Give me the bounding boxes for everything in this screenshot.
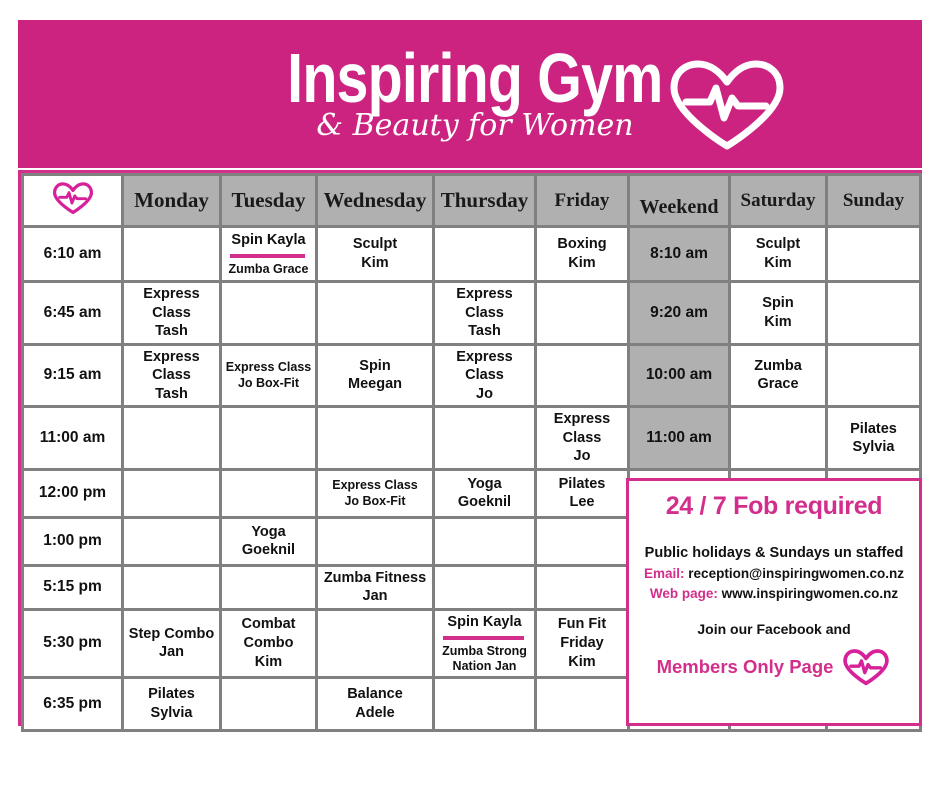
class-cell-wednesday[interactable]: Express ClassJo Box-Fit bbox=[317, 469, 434, 517]
class-entry-line: Kim bbox=[539, 653, 625, 672]
facebook-join-text: Join our Facebook and bbox=[637, 621, 911, 637]
class-entry-line: Express Class bbox=[320, 477, 430, 493]
class-cell-thursday[interactable] bbox=[434, 565, 536, 609]
class-entry-line: Tash bbox=[126, 322, 217, 341]
time-label: 1:00 pm bbox=[23, 517, 123, 565]
column-header-thursday: Thursday bbox=[434, 175, 536, 227]
class-entry-line: Pilates bbox=[126, 685, 217, 704]
staffing-note: Public holidays & Sundays un staffed bbox=[637, 545, 911, 561]
class-cell-saturday[interactable]: SpinKim bbox=[730, 282, 827, 345]
class-entry: Step ComboJan bbox=[126, 625, 217, 662]
class-entry-line: Spin bbox=[733, 294, 823, 313]
table-row: 9:15 amExpress ClassTashExpress ClassJo … bbox=[23, 344, 921, 407]
class-entry-primary: Spin Kayla bbox=[437, 613, 532, 635]
brand-banner: Inspiring Gym & Beauty for Women bbox=[18, 20, 922, 168]
class-entry-line: Kim bbox=[733, 254, 823, 273]
web-value[interactable]: www.inspiringwomen.co.nz bbox=[722, 586, 899, 601]
members-only-link[interactable]: Members Only Page bbox=[657, 656, 834, 678]
members-only-row: Members Only Page bbox=[637, 647, 911, 687]
class-entry-line: Boxing bbox=[539, 235, 625, 254]
class-entry-line: Balance bbox=[320, 685, 430, 704]
class-entry: Fun FitFridayKim bbox=[539, 615, 625, 671]
class-cell-wednesday[interactable]: SpinMeegan bbox=[317, 344, 434, 407]
class-cell-thursday[interactable]: Express ClassTash bbox=[434, 282, 536, 345]
heart-pulse-icon bbox=[841, 647, 891, 687]
class-cell-thursday[interactable] bbox=[434, 407, 536, 470]
class-divider bbox=[443, 636, 524, 640]
column-header-friday: Friday bbox=[536, 175, 629, 227]
table-row: 6:45 amExpress ClassTashExpress ClassTas… bbox=[23, 282, 921, 345]
class-entry: CombatComboKim bbox=[224, 615, 313, 671]
class-entry-line: Jan bbox=[320, 587, 430, 606]
class-entry-line: Express Class bbox=[126, 348, 217, 385]
table-row: 6:10 amSpin KaylaZumba GraceSculptKimBox… bbox=[23, 227, 921, 282]
class-entry-line: Pilates bbox=[830, 420, 917, 439]
class-cell-tuesday[interactable]: Spin KaylaZumba Grace bbox=[221, 227, 317, 282]
email-value[interactable]: reception@inspiringwomen.co.nz bbox=[688, 566, 904, 581]
class-entry-line: Combat bbox=[224, 615, 313, 634]
split-class-cell: Spin KaylaZumba StrongNation Jan bbox=[437, 613, 532, 674]
class-entry: PilatesSylvia bbox=[126, 685, 217, 722]
corner-logo-cell bbox=[23, 175, 123, 227]
class-entry-line: Tash bbox=[437, 322, 532, 341]
class-cell-thursday[interactable]: YogaGoeknil bbox=[434, 469, 536, 517]
class-entry-primary: Spin Kayla bbox=[224, 231, 313, 253]
class-cell-thursday[interactable]: Spin KaylaZumba StrongNation Jan bbox=[434, 610, 536, 678]
class-cell-friday[interactable] bbox=[536, 344, 629, 407]
class-entry: Zumba FitnessJan bbox=[320, 569, 430, 606]
class-entry-line: Combo bbox=[224, 634, 313, 653]
class-entry-line: Yoga bbox=[224, 523, 313, 542]
class-entry-line: Zumba bbox=[733, 357, 823, 376]
class-cell-thursday[interactable] bbox=[434, 677, 536, 730]
weekend-time-label: 9:20 am bbox=[629, 282, 730, 345]
class-cell-saturday[interactable]: SculptKim bbox=[730, 227, 827, 282]
table-row: 11:00 amExpress ClassJo11:00 amPilatesSy… bbox=[23, 407, 921, 470]
class-entry-line: Express Class bbox=[437, 285, 532, 322]
class-entry-line: Express Class bbox=[126, 285, 217, 322]
class-entry: Express ClassTash bbox=[437, 285, 532, 341]
class-cell-saturday[interactable]: ZumbaGrace bbox=[730, 344, 827, 407]
weekend-time-label: 10:00 am bbox=[629, 344, 730, 407]
class-entry-line: Tash bbox=[126, 385, 217, 404]
class-cell-monday[interactable]: Express ClassTash bbox=[123, 282, 221, 345]
class-entry: SpinMeegan bbox=[320, 357, 430, 394]
web-label: Web page: bbox=[650, 586, 718, 601]
class-cell-saturday[interactable] bbox=[730, 407, 827, 470]
class-cell-sunday[interactable] bbox=[827, 282, 921, 345]
class-cell-sunday[interactable] bbox=[827, 227, 921, 282]
class-cell-sunday[interactable]: PilatesSylvia bbox=[827, 407, 921, 470]
time-label: 12:00 pm bbox=[23, 469, 123, 517]
class-cell-monday[interactable]: Step ComboJan bbox=[123, 610, 221, 678]
class-entry-line: Sculpt bbox=[733, 235, 823, 254]
column-header-wednesday: Wednesday bbox=[317, 175, 434, 227]
class-entry-line: Jo bbox=[539, 447, 625, 466]
class-entry: YogaGoeknil bbox=[437, 475, 532, 512]
class-entry-line: Zumba Strong bbox=[437, 644, 532, 659]
class-cell-friday[interactable]: PilatesLee bbox=[536, 469, 629, 517]
class-entry: Express ClassJo bbox=[437, 348, 532, 404]
class-entry-line: Yoga bbox=[437, 475, 532, 494]
class-entry-line: Kim bbox=[733, 313, 823, 332]
class-cell-monday[interactable]: PilatesSylvia bbox=[123, 677, 221, 730]
class-entry-line: Spin bbox=[320, 357, 430, 376]
class-entry: ZumbaGrace bbox=[733, 357, 823, 394]
class-entry-line: Lee bbox=[539, 493, 625, 512]
weekend-time-label: 11:00 am bbox=[629, 407, 730, 470]
class-cell-friday[interactable]: Express ClassJo bbox=[536, 407, 629, 470]
class-cell-friday[interactable]: Fun FitFridayKim bbox=[536, 610, 629, 678]
class-cell-friday[interactable] bbox=[536, 517, 629, 565]
class-cell-thursday[interactable] bbox=[434, 227, 536, 282]
class-entry-secondary: Zumba Grace bbox=[224, 262, 313, 277]
class-cell-tuesday[interactable] bbox=[221, 407, 317, 470]
class-cell-friday[interactable] bbox=[536, 282, 629, 345]
class-entry-line: Zumba Fitness bbox=[320, 569, 430, 588]
class-entry-line: Sylvia bbox=[830, 438, 917, 457]
class-entry: Express ClassJo Box-Fit bbox=[320, 477, 430, 509]
class-entry: BoxingKim bbox=[539, 235, 625, 272]
web-row: Web page: www.inspiringwomen.co.nz bbox=[637, 586, 911, 601]
class-entry: SculptKim bbox=[320, 235, 430, 272]
class-entry-line: Fun Fit bbox=[539, 615, 625, 634]
time-label: 11:00 am bbox=[23, 407, 123, 470]
class-entry: Zumba Grace bbox=[224, 262, 313, 277]
class-cell-thursday[interactable]: Express ClassJo bbox=[434, 344, 536, 407]
class-entry-line: Kim bbox=[224, 653, 313, 672]
class-cell-monday[interactable]: Express ClassTash bbox=[123, 344, 221, 407]
class-cell-tuesday[interactable]: YogaGoeknil bbox=[221, 517, 317, 565]
class-cell-tuesday[interactable] bbox=[221, 469, 317, 517]
heart-pulse-icon bbox=[51, 180, 95, 216]
class-cell-wednesday[interactable]: BalanceAdele bbox=[317, 677, 434, 730]
class-entry-line: Express Class bbox=[224, 359, 313, 375]
time-label: 6:10 am bbox=[23, 227, 123, 282]
class-entry: Zumba StrongNation Jan bbox=[437, 644, 532, 674]
class-entry: Express ClassJo Box-Fit bbox=[224, 359, 313, 391]
heart-pulse-icon bbox=[666, 58, 788, 150]
time-label: 5:15 pm bbox=[23, 565, 123, 609]
class-entry-line: Sylvia bbox=[126, 704, 217, 723]
class-entry: PilatesLee bbox=[539, 475, 625, 512]
time-label: 5:30 pm bbox=[23, 610, 123, 678]
class-entry: SculptKim bbox=[733, 235, 823, 272]
class-entry-line: Step Combo bbox=[126, 625, 217, 644]
class-entry-secondary: Zumba StrongNation Jan bbox=[437, 644, 532, 674]
class-entry: Express ClassTash bbox=[126, 348, 217, 404]
email-label: Email: bbox=[644, 566, 685, 581]
class-entry-line: Jo bbox=[437, 385, 532, 404]
class-cell-wednesday[interactable] bbox=[317, 407, 434, 470]
class-cell-monday[interactable] bbox=[123, 469, 221, 517]
column-header-sunday: Sunday bbox=[827, 175, 921, 227]
class-cell-wednesday[interactable] bbox=[317, 282, 434, 345]
email-row: Email: reception@inspiringwomen.co.nz bbox=[637, 566, 911, 581]
class-entry-line: Jan bbox=[126, 643, 217, 662]
class-cell-monday[interactable] bbox=[123, 517, 221, 565]
column-header-weekend: Weekend bbox=[629, 175, 730, 227]
time-label: 6:45 am bbox=[23, 282, 123, 345]
class-cell-tuesday[interactable] bbox=[221, 282, 317, 345]
class-cell-friday[interactable]: BoxingKim bbox=[536, 227, 629, 282]
class-entry-line: Goeknil bbox=[224, 541, 313, 560]
class-cell-monday[interactable] bbox=[123, 227, 221, 282]
class-cell-friday[interactable] bbox=[536, 565, 629, 609]
class-entry: SpinKim bbox=[733, 294, 823, 331]
class-cell-wednesday[interactable]: Zumba FitnessJan bbox=[317, 565, 434, 609]
class-cell-tuesday[interactable]: Express ClassJo Box-Fit bbox=[221, 344, 317, 407]
class-entry-line: Jo Box-Fit bbox=[320, 493, 430, 509]
weekend-time-label: 8:10 am bbox=[629, 227, 730, 282]
class-entry-line: Express Class bbox=[539, 410, 625, 447]
class-entry: Express ClassTash bbox=[126, 285, 217, 341]
class-entry: BalanceAdele bbox=[320, 685, 430, 722]
class-entry-line: Grace bbox=[733, 375, 823, 394]
class-entry-line: Kim bbox=[539, 254, 625, 273]
brand-block: Inspiring Gym & Beauty for Women bbox=[246, 45, 704, 143]
class-entry: YogaGoeknil bbox=[224, 523, 313, 560]
class-cell-tuesday[interactable] bbox=[221, 677, 317, 730]
class-entry-line: Friday bbox=[539, 634, 625, 653]
class-entry-line: Meegan bbox=[320, 375, 430, 394]
class-entry-line: Adele bbox=[320, 704, 430, 723]
time-label: 6:35 pm bbox=[23, 677, 123, 730]
info-panel: 24 / 7 Fob required Public holidays & Su… bbox=[626, 478, 922, 726]
class-cell-wednesday[interactable]: SculptKim bbox=[317, 227, 434, 282]
class-entry: PilatesSylvia bbox=[830, 420, 917, 457]
class-entry-line: Goeknil bbox=[437, 493, 532, 512]
class-cell-sunday[interactable] bbox=[827, 344, 921, 407]
table-header-row: Monday Tuesday Wednesday Thursday Friday… bbox=[23, 175, 921, 227]
class-divider bbox=[230, 254, 305, 258]
class-entry-line: Pilates bbox=[539, 475, 625, 494]
fob-required-headline: 24 / 7 Fob required bbox=[637, 492, 911, 521]
column-header-tuesday: Tuesday bbox=[221, 175, 317, 227]
class-cell-wednesday[interactable] bbox=[317, 517, 434, 565]
column-header-monday: Monday bbox=[123, 175, 221, 227]
class-cell-tuesday[interactable] bbox=[221, 565, 317, 609]
class-entry-line: Express Class bbox=[437, 348, 532, 385]
class-cell-monday[interactable] bbox=[123, 407, 221, 470]
class-entry-line: Sculpt bbox=[320, 235, 430, 254]
class-entry-line: Jo Box-Fit bbox=[224, 375, 313, 391]
split-class-cell: Spin KaylaZumba Grace bbox=[224, 230, 313, 278]
page-title: Inspiring Gym bbox=[287, 45, 662, 112]
class-cell-monday[interactable] bbox=[123, 565, 221, 609]
class-cell-friday[interactable] bbox=[536, 677, 629, 730]
class-entry-line: Kim bbox=[320, 254, 430, 273]
class-entry: Express ClassJo bbox=[539, 410, 625, 466]
class-entry-line: Zumba Grace bbox=[224, 262, 313, 277]
time-label: 9:15 am bbox=[23, 344, 123, 407]
class-cell-thursday[interactable] bbox=[434, 517, 536, 565]
class-entry-line: Nation Jan bbox=[437, 659, 532, 674]
column-header-saturday: Saturday bbox=[730, 175, 827, 227]
class-cell-wednesday[interactable] bbox=[317, 610, 434, 678]
class-cell-tuesday[interactable]: CombatComboKim bbox=[221, 610, 317, 678]
